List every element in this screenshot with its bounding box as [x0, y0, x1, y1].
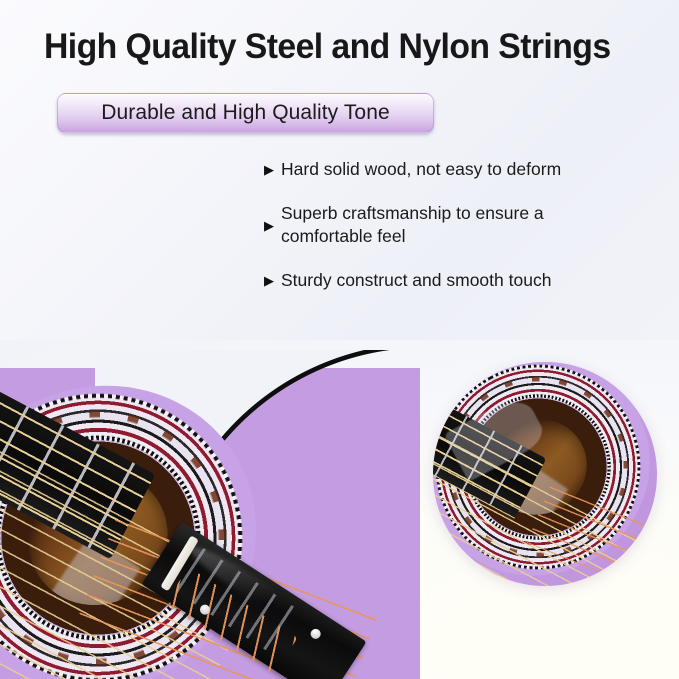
status-badge: Durable and High Quality Tone — [57, 93, 434, 133]
triangle-right-icon: ▶ — [264, 219, 281, 232]
soundhole-detail-inset — [433, 362, 657, 586]
list-item: ▶ Superb craftsmanship to ensure a comfo… — [264, 202, 664, 248]
bridge-inlay-dot — [309, 627, 323, 641]
product-photo-panel — [0, 340, 679, 679]
infographic-page: High Quality Steel and Nylon Strings Dur… — [0, 0, 679, 679]
list-item: ▶ Hard solid wood, not easy to deform — [264, 158, 664, 181]
guitar-body-photo — [0, 340, 420, 679]
list-item-label: Hard solid wood, not easy to deform — [281, 158, 561, 181]
list-item-label: Sturdy construct and smooth touch — [281, 269, 551, 292]
marketing-text-panel: High Quality Steel and Nylon Strings Dur… — [0, 0, 679, 340]
list-item-label: Superb craftsmanship to ensure a comfort… — [281, 202, 591, 248]
triangle-right-icon: ▶ — [264, 274, 281, 287]
list-item: ▶ Sturdy construct and smooth touch — [264, 269, 664, 292]
status-badge-label: Durable and High Quality Tone — [101, 101, 390, 125]
triangle-right-icon: ▶ — [264, 163, 281, 176]
feature-list: ▶ Hard solid wood, not easy to deform ▶ … — [264, 158, 664, 292]
page-title: High Quality Steel and Nylon Strings — [44, 27, 642, 67]
